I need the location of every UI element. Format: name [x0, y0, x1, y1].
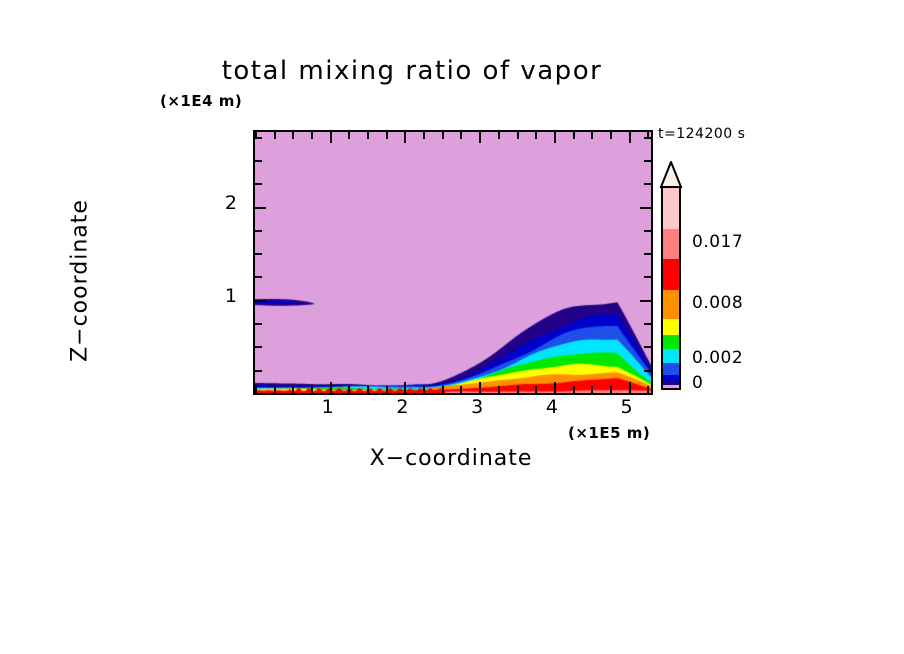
axis-tick-minor	[255, 393, 262, 395]
figure-canvas: total mixing ratio of vapor (×1E4 m) t=1…	[0, 0, 904, 654]
axis-tick-minor	[442, 132, 444, 139]
axis-tick-minor	[255, 230, 262, 232]
axis-tick-minor	[255, 160, 262, 162]
axis-tick-minor	[255, 183, 262, 185]
axis-tick-minor	[644, 346, 651, 348]
contour-field	[255, 132, 651, 393]
colorbar-band	[663, 259, 679, 292]
axis-tick-minor	[423, 132, 425, 139]
axis-tick-major	[255, 207, 266, 209]
x-tick-label: 5	[607, 396, 647, 418]
axis-tick-minor	[274, 386, 276, 393]
axis-tick-minor	[255, 346, 262, 348]
colorbar-tick-label: 0.002	[692, 348, 743, 368]
axis-tick-minor	[274, 132, 276, 139]
axis-tick-minor	[255, 253, 262, 255]
axis-tick-minor	[610, 132, 612, 139]
axis-tick-minor	[292, 132, 294, 139]
axis-tick-minor	[644, 323, 651, 325]
y-tick-label: 1	[213, 285, 237, 307]
axis-tick-minor	[255, 370, 262, 372]
axis-tick-minor	[644, 230, 651, 232]
axis-tick-minor	[535, 386, 537, 393]
axis-tick-minor	[644, 393, 651, 395]
axis-tick-major	[330, 382, 332, 393]
axis-tick-minor	[386, 132, 388, 139]
axis-tick-minor	[591, 386, 593, 393]
contour-plot-area	[253, 130, 653, 395]
x-tick-label: 3	[457, 396, 497, 418]
axis-tick-major	[330, 132, 332, 143]
axis-tick-minor	[255, 323, 262, 325]
axis-tick-minor	[423, 386, 425, 393]
y-tick-label: 2	[213, 192, 237, 214]
axis-tick-major	[404, 132, 406, 143]
axis-tick-minor	[535, 132, 537, 139]
axis-tick-minor	[442, 386, 444, 393]
axis-tick-minor	[367, 386, 369, 393]
axis-tick-minor	[647, 386, 649, 393]
axis-tick-minor	[255, 276, 262, 278]
colorbar-band	[663, 385, 679, 388]
axis-tick-minor	[348, 386, 350, 393]
x-tick-label: 1	[308, 396, 348, 418]
axis-tick-major	[479, 132, 481, 143]
x-tick-label: 2	[382, 396, 422, 418]
axis-tick-minor	[255, 386, 257, 393]
colorbar-band	[663, 188, 679, 231]
axis-tick-minor	[311, 132, 313, 139]
axis-tick-major	[629, 382, 631, 393]
axis-tick-minor	[348, 132, 350, 139]
colorbar	[661, 186, 681, 390]
colorbar-over-arrow	[659, 161, 683, 188]
axis-tick-major	[640, 300, 651, 302]
time-annotation: t=124200 s	[658, 126, 745, 142]
axis-tick-major	[479, 382, 481, 393]
axis-tick-minor	[610, 386, 612, 393]
axis-tick-major	[554, 132, 556, 143]
colorbar-tick-label: 0.017	[692, 232, 743, 252]
axis-tick-major	[640, 207, 651, 209]
axis-tick-minor	[498, 132, 500, 139]
colorbar-band	[663, 229, 679, 262]
colorbar-tick-label: 0	[692, 373, 703, 393]
axis-tick-major	[404, 382, 406, 393]
axis-tick-minor	[573, 386, 575, 393]
x-axis-title: X−coordinate	[253, 446, 649, 471]
axis-tick-minor	[292, 386, 294, 393]
page-title: total mixing ratio of vapor	[0, 56, 864, 86]
axis-tick-minor	[386, 386, 388, 393]
axis-tick-minor	[311, 386, 313, 393]
axis-tick-major	[554, 382, 556, 393]
axis-tick-minor	[517, 132, 519, 139]
axis-tick-minor	[460, 132, 462, 139]
y-axis-title: Z−coordinate	[68, 83, 93, 479]
axis-tick-minor	[644, 183, 651, 185]
colorbar-tick-label: 0.008	[692, 293, 743, 313]
axis-tick-minor	[644, 253, 651, 255]
axis-tick-major	[629, 132, 631, 143]
axis-tick-minor	[460, 386, 462, 393]
x-axis-unit-label: (×1E5 m)	[568, 424, 650, 442]
axis-tick-minor	[255, 137, 262, 139]
axis-tick-minor	[644, 137, 651, 139]
axis-tick-minor	[367, 132, 369, 139]
colorbar-band	[663, 290, 679, 321]
axis-tick-minor	[573, 132, 575, 139]
axis-tick-minor	[498, 386, 500, 393]
axis-tick-minor	[644, 276, 651, 278]
axis-tick-minor	[517, 386, 519, 393]
x-tick-label: 4	[532, 396, 572, 418]
axis-tick-major	[255, 300, 266, 302]
axis-tick-minor	[644, 370, 651, 372]
axis-tick-minor	[644, 160, 651, 162]
z-axis-unit-label: (×1E4 m)	[160, 92, 242, 110]
axis-tick-minor	[591, 132, 593, 139]
